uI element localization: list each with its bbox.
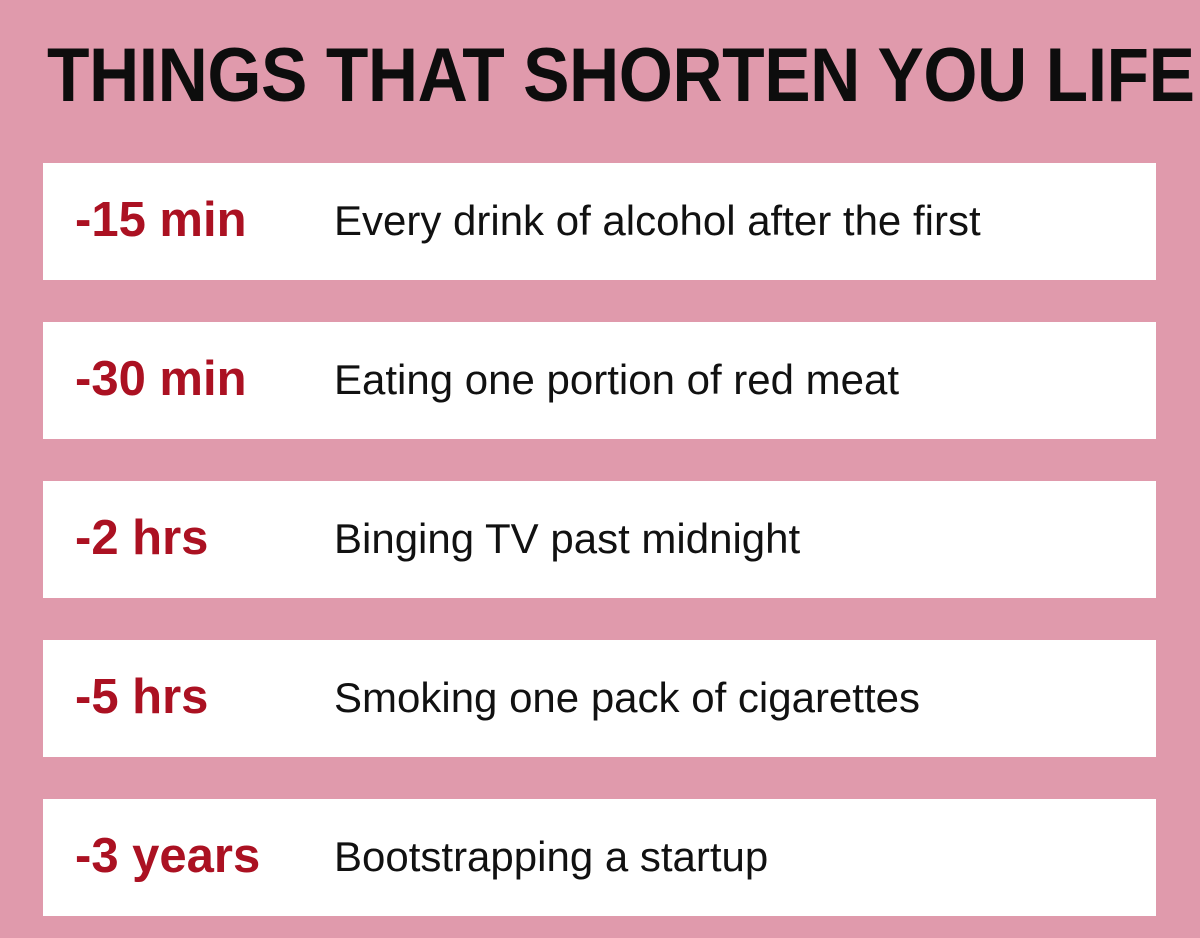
infographic-root: THINGS THAT SHORTEN YOU LIFE -15 min Eve… [0, 0, 1200, 938]
time-cost-value: -3 years [75, 830, 334, 882]
activity-label: Eating one portion of red meat [334, 355, 1138, 405]
list-item: -5 hrs Smoking one pack of cigarettes [43, 640, 1156, 757]
life-cost-list: -15 min Every drink of alcohol after the… [43, 163, 1156, 916]
activity-label: Bootstrapping a startup [334, 832, 1138, 882]
list-item: -3 years Bootstrapping a startup [43, 799, 1156, 916]
activity-label: Every drink of alcohol after the first [334, 196, 1138, 246]
time-cost-value: -15 min [75, 194, 334, 246]
time-cost-value: -5 hrs [75, 671, 334, 723]
list-item: -15 min Every drink of alcohol after the… [43, 163, 1156, 280]
list-item: -30 min Eating one portion of red meat [43, 322, 1156, 439]
activity-label: Binging TV past midnight [334, 514, 1138, 564]
time-cost-value: -30 min [75, 353, 334, 405]
activity-label: Smoking one pack of cigarettes [334, 673, 1138, 723]
page-title: THINGS THAT SHORTEN YOU LIFE [47, 38, 1063, 114]
time-cost-value: -2 hrs [75, 512, 334, 564]
list-item: -2 hrs Binging TV past midnight [43, 481, 1156, 598]
